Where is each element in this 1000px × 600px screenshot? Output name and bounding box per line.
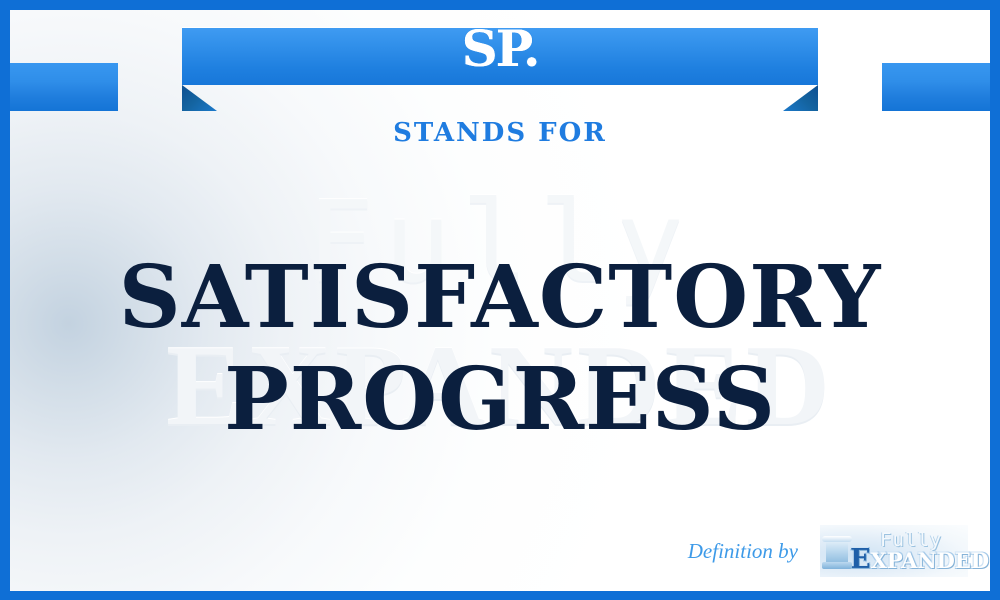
ribbon-header: SP. — [10, 10, 990, 120]
definition-line-2: PROGRESS — [10, 352, 990, 448]
abbreviation-logo: SP. — [10, 24, 990, 74]
logo-expanded-rest: XPANDED — [871, 548, 989, 573]
definition-card: Fully EXPANDED SP. STANDS FOR SATISFACTO… — [0, 0, 1000, 600]
logo-expanded-capital: E — [850, 544, 871, 575]
stands-for-label: STANDS FOR — [10, 118, 990, 148]
footer: Definition by Fully EXPANDED — [688, 525, 968, 577]
abbreviation-text: SP. — [462, 24, 539, 74]
definition-line-1: SATISFACTORY — [10, 250, 990, 346]
fully-expanded-logo[interactable]: Fully EXPANDED — [820, 525, 968, 577]
ribbon-fold-right — [783, 85, 818, 111]
definition-by-label: Definition by — [688, 539, 798, 564]
ribbon-fold-left — [182, 85, 217, 111]
card-inner: Fully EXPANDED SP. STANDS FOR SATISFACTO… — [10, 10, 990, 591]
logo-expanded-text: EXPANDED — [850, 549, 968, 572]
logo-fully-text: Fully — [880, 531, 968, 549]
pillar-icon — [826, 539, 848, 565]
